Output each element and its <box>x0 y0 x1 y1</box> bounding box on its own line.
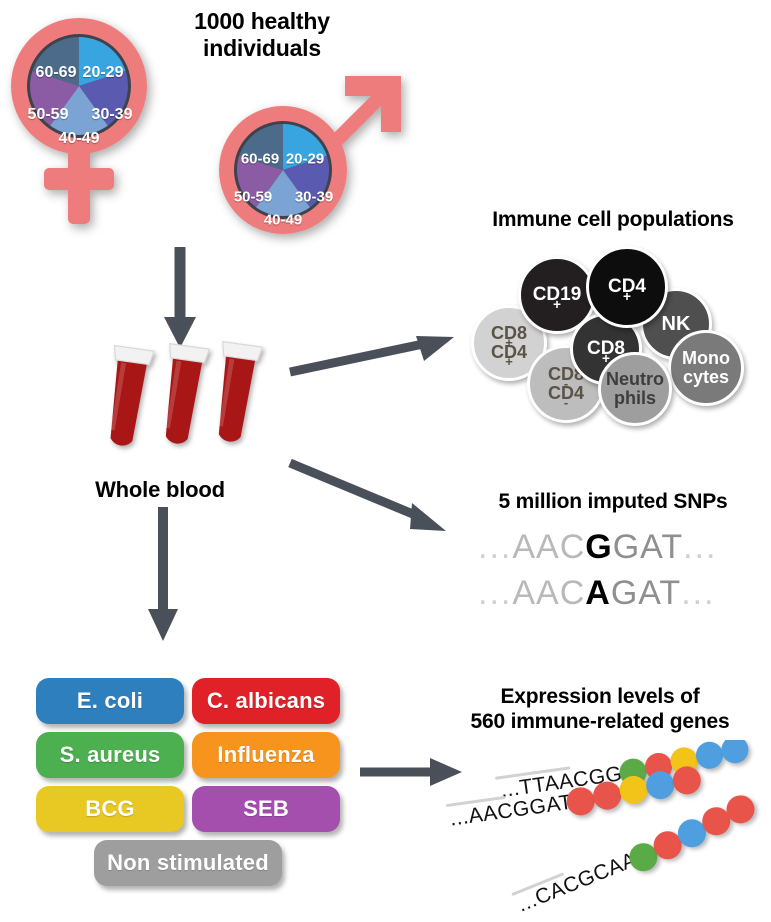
snp-row2-suffix-dots: ... <box>681 574 715 612</box>
immune-bubble-cd8-cd4-dp-line2: CD4+ <box>491 343 527 362</box>
snp-row1-suffix-dots: ... <box>683 528 717 566</box>
snp-sequence-row-2: ...AACAGAT... <box>478 574 716 613</box>
expression-strands: ...TTAACGG ...AACGGAT ...CACGCAA <box>440 740 771 915</box>
strand-middle-bead-2 <box>591 780 623 812</box>
snp-sequences: ...AACGGAT... ...AACAGAT... <box>470 528 760 620</box>
stimuli-panel: E. coli C. albicans S. aureus Influenza … <box>36 678 336 894</box>
snp-row1-pre: AAC <box>512 528 585 566</box>
strand-middle-bead-5 <box>671 765 703 797</box>
whole-blood-label: Whole blood <box>60 477 260 503</box>
figure-canvas: 1000 healthy individuals <box>0 0 771 922</box>
expression-heading-line2: 560 immune-related genes <box>432 710 768 735</box>
strand-bottom-text: ...CACGCAA <box>514 848 640 915</box>
immune-bubble-cd8-cd4-dp-line1: CD8+ <box>491 324 527 343</box>
immune-bubble-cd8-cd4-dn-line2: CD4- <box>548 384 584 403</box>
snps-heading: 5 million imputed SNPs <box>455 490 771 515</box>
stimuli-pill-bcg[interactable]: BCG <box>36 786 184 832</box>
immune-bubble-cd4-label: CD4+ <box>608 277 646 297</box>
expression-heading: Expression levels of 560 immune-related … <box>432 685 768 735</box>
immune-bubble-neutrophils-line2: phils <box>606 389 664 408</box>
strand-middle-text: ...AACGGAT <box>448 791 574 832</box>
snp-row2-pre: AAC <box>512 574 585 612</box>
snp-row2-post: GAT <box>611 574 681 612</box>
immune-bubble-neutrophils-line1: Neutro <box>606 370 664 389</box>
immune-bubble-monocytes-line1: Mono <box>682 349 730 368</box>
immune-bubble-monocytes: Mono cytes <box>668 330 744 406</box>
arrow-blood-to-snps <box>288 455 463 545</box>
snp-sequence-row-1: ...AACGGAT... <box>478 528 717 567</box>
immune-bubble-nk-label: NK <box>662 314 691 335</box>
stimuli-pill-e-coli[interactable]: E. coli <box>36 678 184 724</box>
arrow-down-blood-to-stimuli <box>143 505 183 650</box>
expression-heading-line1: Expression levels of <box>432 685 768 710</box>
strand-middle-bead-4 <box>644 769 676 801</box>
stimuli-pill-seb[interactable]: SEB <box>192 786 340 832</box>
snp-row1-variant: G <box>585 528 612 566</box>
snp-row2-variant: A <box>585 574 611 612</box>
stimuli-pill-c-albicans[interactable]: C. albicans <box>192 678 340 724</box>
immune-bubble-neutrophils: Neutro phils <box>598 352 672 426</box>
immune-bubble-cd4: CD4+ <box>586 246 668 328</box>
stimuli-pill-s-aureus[interactable]: S. aureus <box>36 732 184 778</box>
stimuli-pill-influenza[interactable]: Influenza <box>192 732 340 778</box>
immune-bubble-cd19-label: CD19+ <box>533 285 582 305</box>
snp-row1-prefix-dots: ... <box>478 528 512 566</box>
stimuli-pill-non-stimulated[interactable]: Non stimulated <box>94 840 282 886</box>
snp-row1-post: GAT <box>613 528 683 566</box>
snp-row2-prefix-dots: ... <box>478 574 512 612</box>
strand-middle-bead-3 <box>618 774 650 806</box>
immune-bubble-monocytes-line2: cytes <box>682 368 730 387</box>
immune-cell-bubbles: CD8+ CD4+ CD19+ CD4+ NK CD8+ CD8- CD4- N… <box>0 0 771 430</box>
